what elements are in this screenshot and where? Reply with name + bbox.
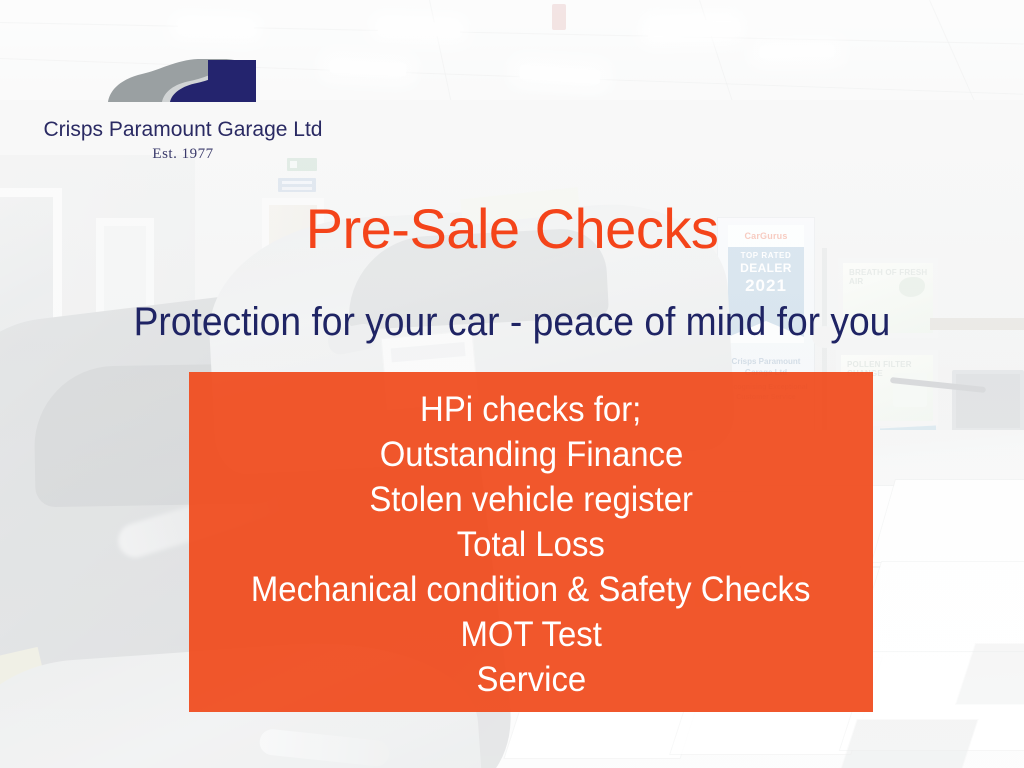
page-title: Pre-Sale Checks [0, 199, 1024, 259]
established-text: Est. 1977 [18, 146, 348, 163]
fire-alarm-icon [552, 4, 566, 30]
page-subtitle: Protection for your car - peace of mind … [36, 299, 988, 345]
computer-monitor [952, 370, 1024, 432]
company-name: Crisps Paramount Garage Ltd [18, 118, 348, 142]
checks-list-item: Outstanding Finance [379, 432, 683, 477]
checks-list-item: Mechanical condition & Safety Checks [251, 567, 811, 612]
checks-list-item: Total Loss [457, 522, 605, 567]
checks-panel: HPi checks for; Outstanding Finance Stol… [189, 372, 873, 712]
checks-list-item: Service [476, 657, 586, 702]
checks-list-item: MOT Test [460, 612, 601, 657]
slide-canvas: CarGurus TOP RATED DEALER 2021 Crisps Pa… [0, 0, 1024, 768]
checks-list: HPi checks for; Outstanding Finance Stol… [189, 372, 873, 712]
company-logo-block: Crisps Paramount Garage Ltd Est. 1977 [18, 52, 348, 163]
notice-sign [278, 178, 316, 192]
banner-award-line2: DEALER [728, 261, 804, 275]
checks-list-item: HPi checks for; [420, 387, 641, 432]
car-silhouette-logo-icon [98, 52, 268, 114]
banner-award-year: 2021 [728, 275, 804, 297]
checks-list-item: Stolen vehicle register [369, 477, 693, 522]
